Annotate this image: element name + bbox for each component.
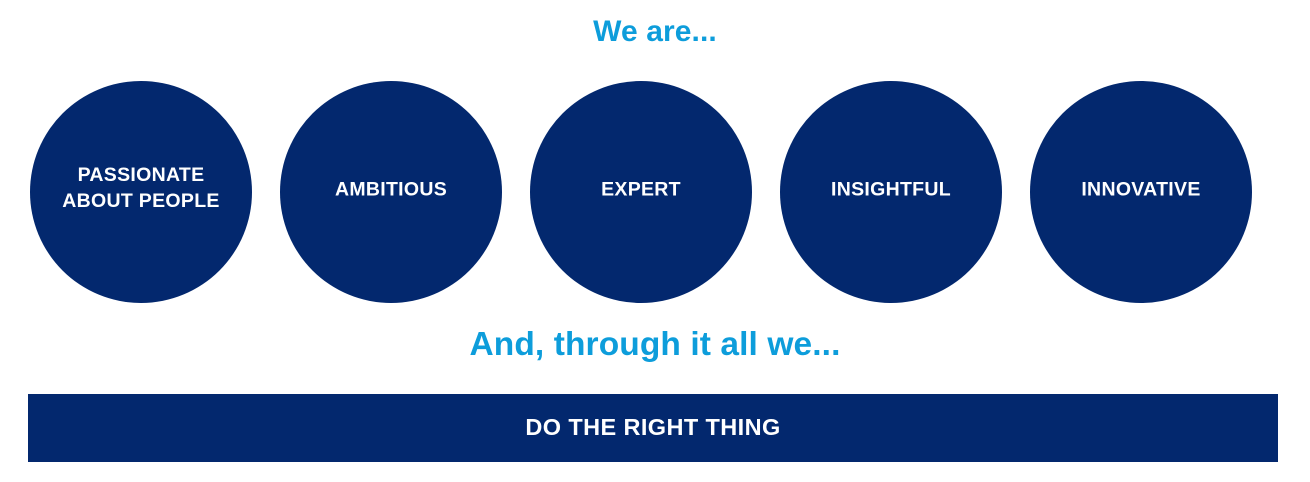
value-circle-label: EXPERT: [530, 178, 752, 204]
value-circle-expert: EXPERT: [530, 81, 752, 303]
value-circle-label: INSIGHTFUL: [780, 178, 1002, 204]
value-circle-label: PASSIONATE ABOUT PEOPLE: [30, 163, 252, 214]
heading-we-are: We are...: [0, 17, 1310, 47]
value-circle-passionate-about-people: PASSIONATE ABOUT PEOPLE: [30, 81, 252, 303]
banner-do-the-right-thing: DO THE RIGHT THING: [28, 394, 1278, 462]
value-circle-insightful: INSIGHTFUL: [780, 81, 1002, 303]
values-infographic: We are... PASSIONATE ABOUT PEOPLE AMBITI…: [0, 0, 1310, 482]
value-circle-label: INNOVATIVE: [1030, 178, 1252, 204]
value-circle-innovative: INNOVATIVE: [1030, 81, 1252, 303]
value-circle-row: PASSIONATE ABOUT PEOPLE AMBITIOUS EXPERT…: [30, 81, 1256, 303]
value-circle-ambitious: AMBITIOUS: [280, 81, 502, 303]
value-circle-label: AMBITIOUS: [280, 178, 502, 204]
banner-label: DO THE RIGHT THING: [525, 416, 780, 440]
heading-and-through-it-all-we: And, through it all we...: [0, 328, 1310, 362]
